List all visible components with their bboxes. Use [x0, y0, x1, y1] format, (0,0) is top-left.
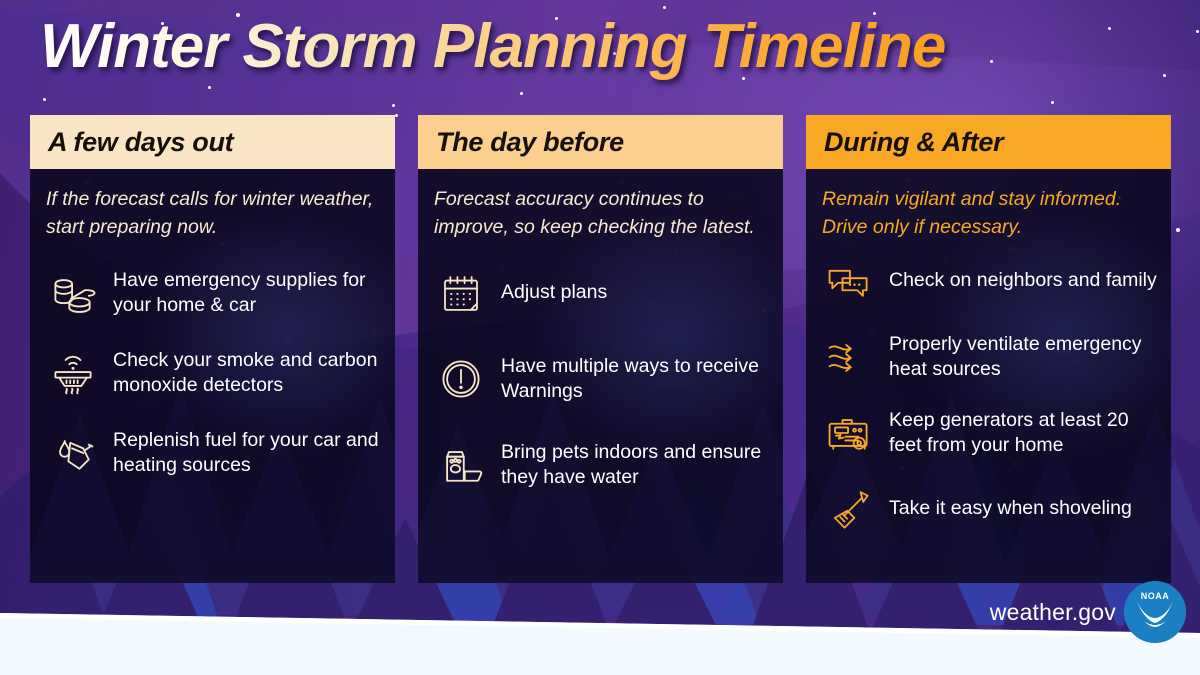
generator-icon	[822, 406, 876, 460]
weather-gov-label[interactable]: weather.gov	[990, 599, 1116, 626]
list-item-text: Check your smoke and carbon monoxide det…	[113, 348, 381, 398]
list-item: Keep generators at least 20 feet from yo…	[822, 406, 1157, 460]
fuel-pump-icon	[46, 426, 100, 480]
column-the-day-before: The day before Forecast accuracy continu…	[418, 115, 783, 583]
list-item: Replenish fuel for your car and heating …	[46, 426, 381, 480]
airflow-icon	[822, 330, 876, 384]
list-item-text: Adjust plans	[501, 280, 607, 305]
list-item-text: Bring pets indoors and ensure they have …	[501, 440, 769, 490]
list-item-text: Replenish fuel for your car and heating …	[113, 428, 381, 478]
smoke-detector-icon	[46, 346, 100, 400]
list-item: Check your smoke and carbon monoxide det…	[46, 346, 381, 400]
speech-bubbles-icon	[822, 254, 876, 308]
column-during-and-after: During & After Remain vigilant and stay …	[806, 115, 1171, 583]
list-item-text: Take it easy when shoveling	[889, 496, 1132, 521]
list-item: Have emergency supplies for your home & …	[46, 266, 381, 320]
list-item-text: Have emergency supplies for your home & …	[113, 268, 381, 318]
column-header-2: The day before	[418, 115, 783, 169]
infographic-canvas: Winter Storm Planning Timeline A few day…	[0, 0, 1200, 675]
list-item-text: Keep generators at least 20 feet from yo…	[889, 408, 1157, 458]
column-intro-3: Remain vigilant and stay informed. Drive…	[822, 185, 1157, 242]
noaa-logo[interactable]: NOAA	[1124, 581, 1186, 643]
list-item-text: Properly ventilate emergency heat source…	[889, 332, 1157, 382]
column-header-1: A few days out	[30, 115, 395, 169]
alert-exclamation-icon	[434, 352, 488, 406]
column-intro-1: If the forecast calls for winter weather…	[46, 185, 381, 242]
list-item: Check on neighbors and family	[822, 254, 1157, 308]
list-item: Have multiple ways to receive Warnings	[434, 352, 769, 406]
svg-text:NOAA: NOAA	[1141, 591, 1170, 601]
footer: weather.gov NOAA	[990, 581, 1186, 643]
list-item: Bring pets indoors and ensure they have …	[434, 438, 769, 492]
list-item: Take it easy when shoveling	[822, 482, 1157, 536]
list-item-text: Have multiple ways to receive Warnings	[501, 354, 769, 404]
column-body-3: Remain vigilant and stay informed. Drive…	[806, 169, 1171, 583]
list-item-text: Check on neighbors and family	[889, 268, 1157, 293]
calendar-icon	[434, 266, 488, 320]
column-intro-2: Forecast accuracy continues to improve, …	[434, 185, 769, 242]
column-items-1: Have emergency supplies for your home & …	[46, 266, 381, 480]
pet-food-icon	[434, 438, 488, 492]
snow-shovel-icon	[822, 482, 876, 536]
column-body-2: Forecast accuracy continues to improve, …	[418, 169, 783, 583]
list-item: Properly ventilate emergency heat source…	[822, 330, 1157, 384]
column-a-few-days-out: A few days out If the forecast calls for…	[30, 115, 395, 583]
column-items-2: Adjust plans Have multiple ways to recei…	[434, 266, 769, 492]
supplies-icon	[46, 266, 100, 320]
list-item: Adjust plans	[434, 266, 769, 320]
page-title: Winter Storm Planning Timeline	[40, 11, 945, 82]
column-items-3: Check on neighbors and family	[822, 254, 1157, 536]
column-header-3: During & After	[806, 115, 1171, 169]
column-body-1: If the forecast calls for winter weather…	[30, 169, 395, 583]
